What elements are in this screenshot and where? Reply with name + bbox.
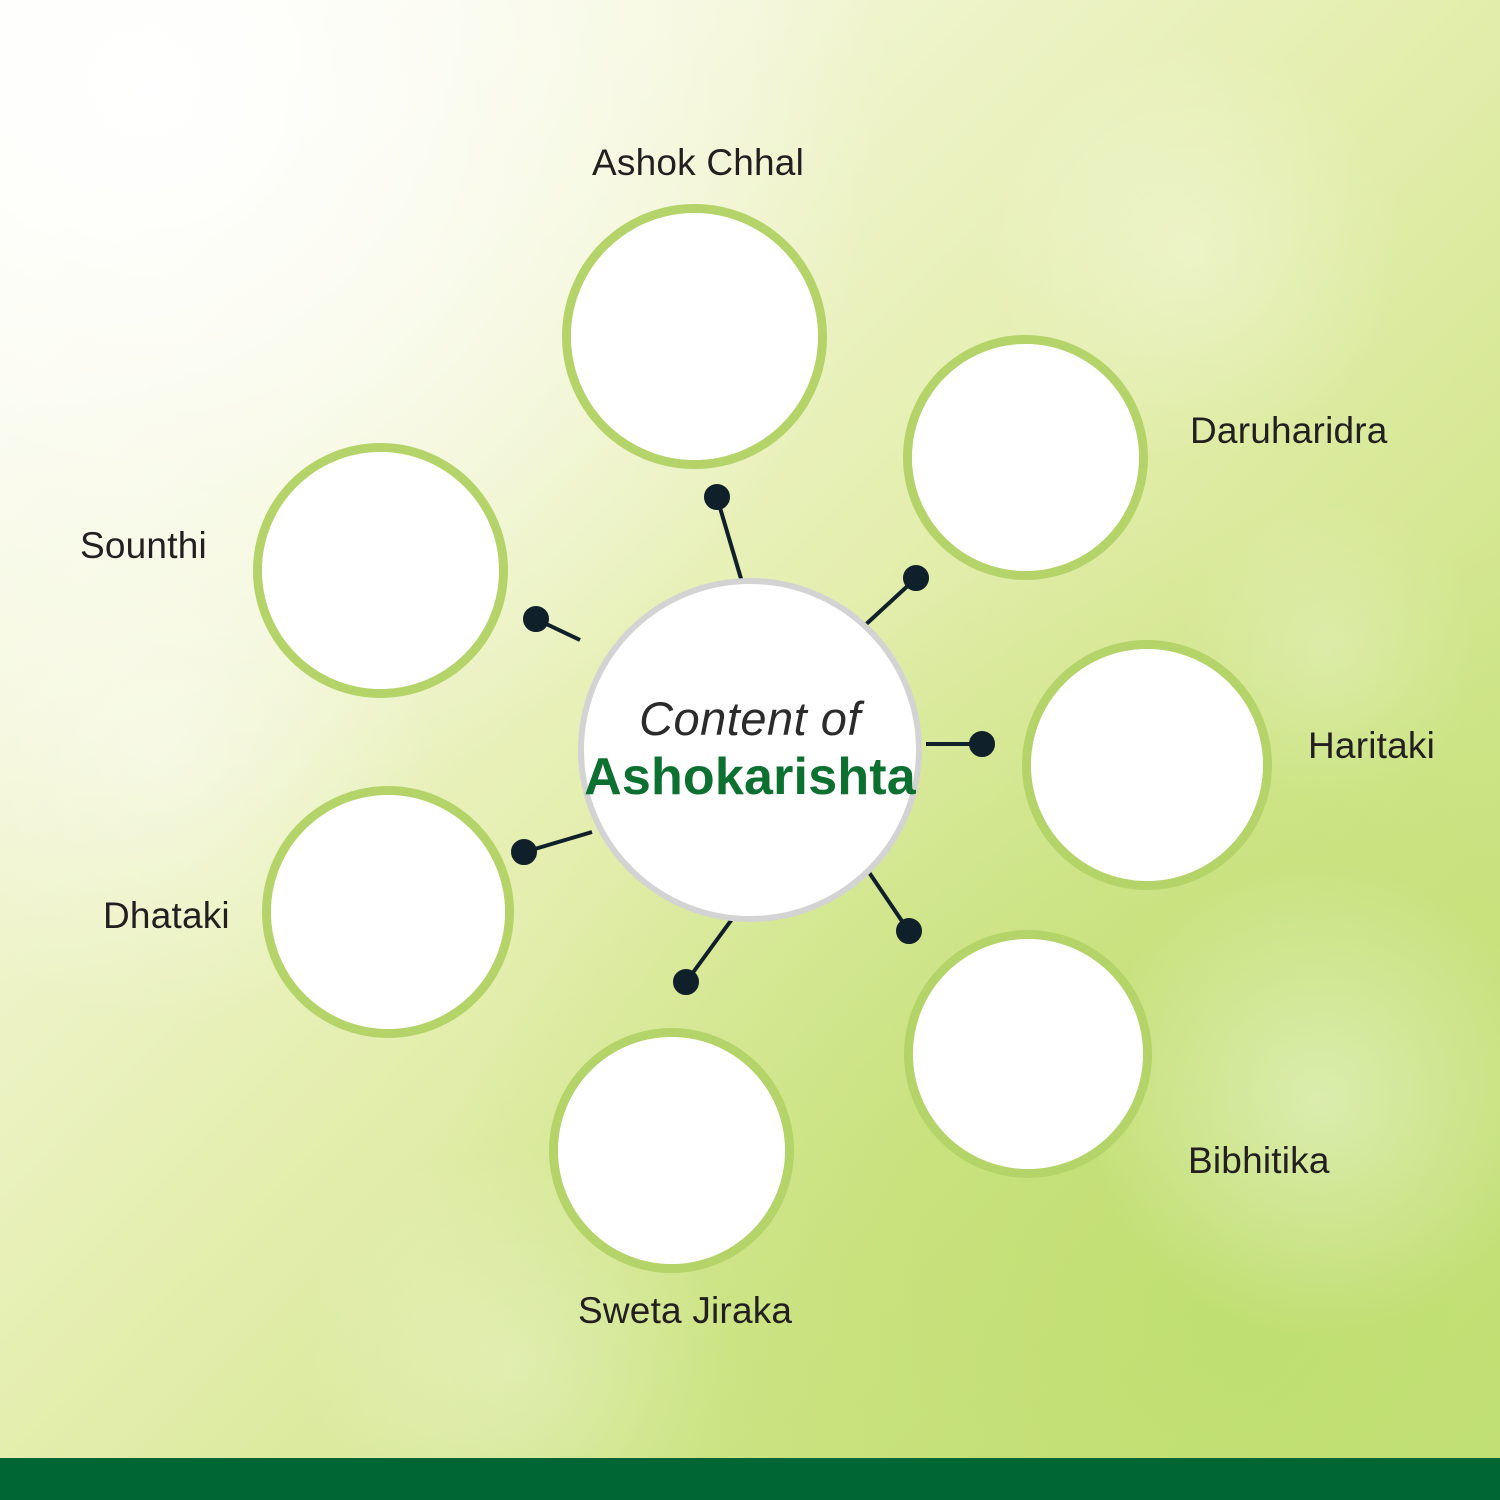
ingredient-label-haritaki: Haritaki — [1308, 725, 1435, 767]
ingredient-label-ashok-chhal: Ashok Chhal — [592, 142, 804, 184]
ingredient-label-bibhitika: Bibhitika — [1188, 1140, 1330, 1182]
ingredient-circle-bibhitika[interactable] — [904, 930, 1152, 1178]
ingredient-image-sweta-jiraka — [558, 1037, 785, 1264]
ingredient-label-sounthi: Sounthi — [80, 525, 207, 567]
ingredient-image-daruharidra — [912, 344, 1139, 571]
ingredient-label-dhataki: Dhataki — [103, 895, 230, 937]
ingredient-image-bibhitika — [913, 939, 1143, 1169]
ingredient-image-haritaki — [1031, 649, 1263, 881]
ingredient-image-dhataki — [271, 795, 505, 1029]
ingredient-label-daruharidra: Daruharidra — [1190, 410, 1388, 452]
ingredient-circle-dhataki[interactable] — [262, 786, 514, 1038]
bottom-bar — [0, 1458, 1500, 1500]
center-title-line2: Ashokarishta — [584, 748, 916, 806]
ingredient-circle-sweta-jiraka[interactable] — [549, 1028, 794, 1273]
ingredient-circle-sounthi[interactable] — [253, 443, 508, 698]
ingredient-label-sweta-jiraka: Sweta Jiraka — [578, 1290, 792, 1332]
center-title-line1: Content of — [639, 694, 861, 743]
ingredient-image-ashok-chhal — [571, 213, 818, 460]
ingredient-circle-haritaki[interactable] — [1022, 640, 1272, 890]
center-hub: Content of Ashokarishta — [578, 578, 922, 922]
ingredient-circle-daruharidra[interactable] — [903, 335, 1148, 580]
infographic-poster: Ashok Chhal Daruharidra Haritaki Bibhiti… — [0, 0, 1500, 1500]
ingredient-circle-ashok-chhal[interactable] — [562, 204, 827, 469]
ingredient-image-sounthi — [262, 452, 499, 689]
